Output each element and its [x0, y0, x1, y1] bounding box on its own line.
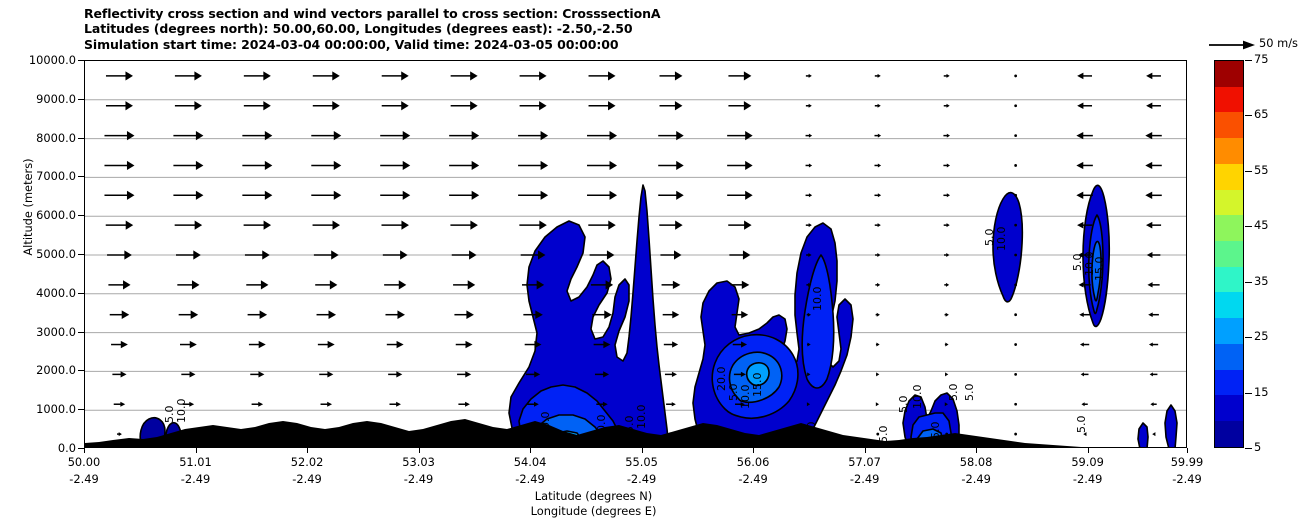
wind-vector-arrow: [1150, 402, 1156, 406]
wind-vector-arrow: [874, 163, 881, 167]
wind-vector-arrow: [321, 402, 332, 407]
wind-vector-arrow: [1015, 344, 1017, 346]
wind-vector-arrow: [314, 250, 339, 259]
colorbar-band: [1215, 292, 1243, 318]
wind-vector-arrow: [876, 402, 879, 406]
wind-vector-arrow: [874, 193, 881, 197]
wind-vector-arrow: [1015, 314, 1017, 316]
wind-vector-arrow: [589, 101, 616, 110]
svg-text:5.0: 5.0: [897, 396, 910, 414]
x-axis-tick-label-longitude: -2.49: [257, 472, 357, 486]
wind-vector-arrow: [250, 371, 264, 377]
wind-vector-arrow: [242, 191, 272, 200]
wind-vector-arrow: [246, 280, 268, 289]
wind-vector-arrow: [318, 341, 335, 348]
wind-vector-arrow: [943, 163, 950, 167]
wind-vector-arrow: [175, 221, 202, 230]
wind-vector-arrow: [1081, 402, 1087, 406]
wind-vector-arrow: [313, 101, 340, 110]
svg-text:10.0: 10.0: [175, 399, 188, 424]
wind-vector-arrow: [1146, 222, 1161, 229]
colorbar-tick-mark: [1245, 448, 1252, 449]
x-axis-tick-label-latitude: 55.05: [592, 455, 692, 469]
colorbar-tick-label: 25: [1254, 329, 1269, 343]
x-axis-tick-label-latitude: 56.06: [703, 455, 803, 469]
wind-vector-arrow: [666, 402, 676, 406]
x-axis-tick-label-latitude: 51.01: [146, 455, 246, 469]
wind-vector-arrow: [875, 253, 880, 257]
y-axis-tick-label: 8000.0: [2, 131, 76, 145]
y-axis-tick-mark: [78, 293, 84, 294]
wind-vector-arrow: [117, 432, 122, 436]
wind-vector-arrow: [727, 161, 753, 170]
x-axis-tick-label-latitude: 50.00: [34, 455, 134, 469]
y-axis-tick-label: 4000.0: [2, 286, 76, 300]
wind-vector-arrow: [177, 280, 199, 289]
wind-vector-arrow: [946, 433, 948, 435]
svg-text:5.0: 5.0: [1075, 416, 1088, 434]
wind-vector-arrow: [382, 71, 409, 80]
x-axis-tick-label-latitude: 53.03: [369, 455, 469, 469]
wind-vector-arrow: [519, 221, 546, 230]
wind-vector-arrow: [388, 371, 402, 377]
wind-vector-arrow: [729, 250, 750, 259]
wind-vector-arrow: [1079, 312, 1090, 317]
wind-vector-arrow: [317, 310, 336, 319]
wind-vector-arrow: [244, 221, 271, 230]
wind-vector-arrow: [110, 310, 129, 319]
wind-vector-arrow: [454, 310, 473, 319]
wind-vector-arrow: [248, 310, 267, 319]
wind-vector-arrow: [874, 134, 881, 138]
wind-vector-arrow: [875, 223, 881, 227]
wind-vector-arrow: [1015, 165, 1017, 167]
wind-vector-arrow: [175, 71, 202, 80]
y-axis-tick-label: 6000.0: [2, 208, 76, 222]
y-axis-tick-mark: [78, 370, 84, 371]
wind-vector-arrow: [179, 310, 198, 319]
wind-vector-arrow: [456, 341, 473, 348]
wind-vector-arrow: [249, 341, 266, 348]
wind-vector-arrow: [107, 250, 132, 259]
wind-vector-arrow: [106, 101, 133, 110]
plot-area: 5.0 10.0 20.0 20.0 5.0 10.0 20.0 5.0 10.…: [84, 60, 1187, 448]
wind-vector-arrow: [1015, 135, 1017, 137]
y-axis-tick-mark: [78, 332, 84, 333]
wind-vector-arrow: [875, 283, 880, 287]
wind-vector-arrow: [383, 250, 408, 259]
wind-vector-arrow: [808, 433, 810, 435]
wind-vector-arrow: [728, 221, 751, 230]
y-axis-tick-mark: [78, 60, 84, 61]
y-axis-tick-mark: [78, 99, 84, 100]
wind-vector-arrow: [1148, 312, 1159, 317]
wind-vector-arrow: [944, 104, 950, 108]
x-axis-tick-mark: [753, 448, 754, 453]
cross-section-canvas: 5.0 10.0 20.0 20.0 5.0 10.0 20.0 5.0 10.…: [85, 61, 1187, 448]
y-axis-tick-label: 9000.0: [2, 92, 76, 106]
svg-text:5.0: 5.0: [963, 384, 976, 402]
wind-vector-arrow: [114, 402, 125, 407]
wind-vector-arrow: [1015, 224, 1017, 226]
colorbar-band: [1215, 395, 1243, 421]
wind-vector-arrow: [658, 161, 684, 170]
wind-vector-arrow: [587, 161, 617, 170]
svg-text:10.0: 10.0: [995, 227, 1008, 252]
wind-vector-arrow: [875, 74, 881, 78]
svg-text:10.0: 10.0: [911, 385, 924, 410]
wind-vector-arrow: [1015, 194, 1017, 196]
wind-vector-arrow: [452, 250, 477, 259]
x-axis-tick-label-longitude: -2.49: [592, 472, 692, 486]
wind-vector-arrow: [728, 71, 751, 80]
wind-vector-arrow: [1015, 284, 1017, 286]
wind-vector-arrow: [664, 341, 678, 347]
wind-vector-arrow: [727, 191, 753, 200]
wind-vector-arrow: [945, 343, 949, 347]
wind-vector-arrow: [457, 371, 471, 377]
y-axis-tick-mark: [78, 215, 84, 216]
y-axis-tick-label: 0.0: [2, 441, 76, 455]
wind-vector-arrow: [1145, 162, 1162, 169]
wind-vector-arrow: [315, 280, 337, 289]
wind-vector-arrow: [1147, 252, 1161, 258]
x-axis-tick-mark: [530, 448, 531, 453]
x-axis-tick-label-latitude: 54.04: [480, 455, 580, 469]
x-axis-tick-mark: [642, 448, 643, 453]
svg-text:5.0: 5.0: [805, 422, 818, 440]
wind-vector-arrow: [104, 161, 134, 170]
wind-vector-arrow: [173, 161, 203, 170]
y-axis-tick-label: 5000.0: [2, 247, 76, 261]
wind-vector-arrow: [945, 313, 949, 317]
wind-vector-arrow: [1076, 162, 1093, 169]
wind-vector-arrow: [659, 71, 682, 80]
wind-vector-arrow: [252, 402, 263, 407]
wind-vector-arrow: [389, 402, 400, 407]
x-axis-tick-mark: [84, 448, 85, 453]
wind-vector-arrow: [1081, 372, 1089, 376]
colorbar-band: [1215, 87, 1243, 113]
wind-vector-arrow: [387, 341, 404, 348]
wind-vector-arrow: [1077, 73, 1092, 80]
wind-vector-arrow: [520, 71, 547, 80]
wind-vector-arrow: [806, 104, 812, 108]
x-axis-tick-label-latitude: 59.99: [1137, 455, 1237, 469]
colorbar-tick-label: 45: [1254, 218, 1269, 232]
colorbar-tick-mark: [1245, 171, 1252, 172]
x-axis-tick-label-latitude: 58.08: [926, 455, 1026, 469]
wind-vector-arrow: [1146, 103, 1161, 110]
wind-vector-arrow: [1015, 105, 1017, 107]
right-arrow-icon: [1207, 36, 1257, 54]
wind-vector-arrow: [1147, 282, 1159, 287]
wind-vector-arrow: [1150, 372, 1158, 376]
wind-reference-label: 50 m/s: [1259, 36, 1298, 50]
colorbar-tick-mark: [1245, 226, 1252, 227]
x-axis-tick-mark: [865, 448, 866, 453]
wind-vector-arrow: [319, 371, 333, 377]
wind-vector-arrow: [806, 74, 812, 78]
colorbar-band: [1215, 138, 1243, 164]
wind-vector-arrow: [659, 101, 682, 110]
wind-vector-arrow: [944, 223, 950, 227]
wind-vector-arrow: [244, 71, 271, 80]
x-axis-tick-mark: [1187, 448, 1188, 453]
wind-vector-arrow: [1080, 343, 1089, 347]
wind-vector-arrow: [311, 161, 341, 170]
wind-vector-arrow: [806, 193, 813, 197]
x-axis-tick-label-longitude: -2.49: [480, 472, 580, 486]
title-line-1: Reflectivity cross section and wind vect…: [84, 6, 984, 21]
wind-vector-arrow: [659, 221, 682, 230]
x-axis-tick-label-longitude: -2.49: [369, 472, 469, 486]
wind-vector-arrow: [520, 101, 547, 110]
wind-vector-arrow: [173, 191, 203, 200]
wind-vector-arrow: [181, 371, 195, 377]
wind-vector-arrow: [384, 280, 406, 289]
x-axis-tick-label-latitude: 52.02: [257, 455, 357, 469]
colorbar-tick-label: 35: [1254, 274, 1269, 288]
svg-text:15.0: 15.0: [751, 373, 764, 398]
wind-vector-arrow: [662, 281, 681, 289]
x-axis-title-latitude: Latitude (degrees N): [0, 489, 1187, 503]
y-axis-tick-mark: [78, 409, 84, 410]
wind-vector-arrow: [175, 101, 202, 110]
wind-vector-arrow: [944, 253, 949, 257]
wind-vector-arrow: [106, 221, 133, 230]
wind-vector-arrow: [589, 71, 616, 80]
colorbar-tick-mark: [1245, 282, 1252, 283]
wind-vector-arrow: [104, 191, 134, 200]
svg-text:5.0: 5.0: [929, 422, 942, 440]
wind-vector-arrow: [806, 163, 813, 167]
wind-vector-arrow: [451, 71, 478, 80]
wind-vector-arrow: [728, 101, 751, 110]
colorbar: [1214, 60, 1244, 448]
wind-vector-arrow: [1146, 73, 1161, 80]
x-axis-title-longitude: Longitude (degrees E): [0, 504, 1187, 518]
wind-vector-arrow: [806, 223, 812, 227]
colorbar-band: [1215, 215, 1243, 241]
y-axis-tick-label: 10000.0: [2, 53, 76, 67]
y-axis-tick-mark: [78, 254, 84, 255]
wind-vector-arrow: [1015, 254, 1017, 256]
svg-text:10.0: 10.0: [811, 287, 824, 312]
y-axis-tick-label: 7000.0: [2, 169, 76, 183]
wind-vector-arrow: [453, 280, 475, 289]
x-axis-tick-label-longitude: -2.49: [1137, 472, 1237, 486]
x-axis-tick-mark: [196, 448, 197, 453]
wind-vector-arrow: [518, 161, 548, 170]
x-axis-tick-mark: [419, 448, 420, 453]
y-axis-tick-mark: [78, 138, 84, 139]
wind-vector-arrow: [943, 134, 950, 138]
colorbar-tick-label: 15: [1254, 385, 1269, 399]
wind-vector-arrow: [1145, 192, 1162, 199]
wind-vector-arrow: [385, 310, 404, 319]
wind-vector-arrow: [313, 71, 340, 80]
wind-vector-arrow: [180, 341, 197, 348]
colorbar-tick-mark: [1245, 115, 1252, 116]
svg-text:15.0: 15.0: [1093, 257, 1106, 282]
wind-vector-arrow: [590, 250, 615, 259]
wind-vector-arrow: [313, 221, 340, 230]
wind-vector-arrow: [381, 221, 408, 230]
wind-vector-arrow: [1015, 403, 1017, 405]
wind-vector-arrow: [1015, 373, 1017, 375]
wind-vector-arrow: [876, 372, 879, 376]
colorbar-band: [1215, 318, 1243, 344]
svg-text:20.0: 20.0: [539, 412, 552, 437]
wind-vector-arrow: [1015, 75, 1017, 77]
wind-vector-arrow: [945, 372, 948, 376]
wind-vector-arrow: [877, 433, 879, 435]
wind-vector-arrow: [450, 221, 477, 230]
wind-vector-arrow: [876, 313, 880, 317]
wind-vector-arrow: [311, 191, 341, 200]
wind-vector-arrow: [458, 402, 469, 407]
colorbar-band: [1215, 421, 1243, 447]
colorbar-band: [1215, 267, 1243, 293]
x-axis-tick-mark: [1088, 448, 1089, 453]
y-axis-tick-label: 2000.0: [2, 363, 76, 377]
wind-vector-arrow: [518, 191, 548, 200]
wind-vector-arrow: [242, 161, 272, 170]
wind-vector-arrow: [1152, 432, 1155, 436]
colorbar-tick-label: 5: [1254, 440, 1261, 454]
wind-vector-arrow: [663, 311, 680, 318]
title-line-2: Latitudes (degrees north): 50.00,60.00, …: [84, 21, 984, 36]
wind-vector-arrow: [449, 161, 479, 170]
colorbar-band: [1215, 190, 1243, 216]
wind-vector-arrow: [244, 101, 271, 110]
colorbar-band: [1215, 370, 1243, 396]
wind-vector-arrow: [380, 191, 410, 200]
y-axis-tick-label: 1000.0: [2, 402, 76, 416]
x-axis-tick-label-longitude: -2.49: [815, 472, 915, 486]
wind-vector-arrow: [451, 101, 478, 110]
wind-vector-arrow: [1077, 103, 1092, 110]
reflectivity-cross-section-figure: Reflectivity cross section and wind vect…: [0, 0, 1304, 526]
wind-vector-arrow: [943, 193, 950, 197]
wind-vector-arrow: [108, 280, 130, 289]
wind-vector-arrow: [112, 371, 126, 377]
wind-vector-arrow: [245, 250, 270, 259]
colorbar-band: [1215, 344, 1243, 370]
y-axis-tick-label: 3000.0: [2, 325, 76, 339]
title-line-3: Simulation start time: 2024-03-04 00:00:…: [84, 37, 984, 52]
wind-vector-arrow: [1015, 433, 1017, 435]
y-axis-tick-mark: [78, 176, 84, 177]
colorbar-band: [1215, 61, 1243, 87]
colorbar-tick-mark: [1245, 60, 1252, 61]
wind-vector-arrow: [587, 191, 617, 200]
wind-vector-arrow: [944, 74, 950, 78]
wind-vector-arrow: [176, 250, 201, 259]
colorbar-tick-mark: [1245, 393, 1252, 394]
wind-vector-arrow: [876, 343, 880, 347]
wind-vector-arrow: [660, 250, 681, 259]
colorbar-tick-label: 65: [1254, 107, 1269, 121]
wind-vector-arrow: [106, 71, 133, 80]
colorbar-tick-mark: [1245, 337, 1252, 338]
colorbar-band: [1215, 164, 1243, 190]
x-axis-tick-mark: [976, 448, 977, 453]
x-axis-tick-label-longitude: -2.49: [34, 472, 134, 486]
svg-text:10.0: 10.0: [635, 405, 648, 430]
colorbar-tick-label: 55: [1254, 163, 1269, 177]
x-axis-tick-label-longitude: -2.49: [703, 472, 803, 486]
wind-vector-arrow: [382, 101, 409, 110]
colorbar-band: [1215, 112, 1243, 138]
colorbar-band: [1215, 241, 1243, 267]
y-axis-title: Altitude (meters): [21, 127, 35, 287]
wind-vector-arrow: [944, 283, 949, 287]
wind-vector-arrow: [111, 341, 128, 348]
wind-vector-arrow: [380, 161, 410, 170]
x-axis-tick-label-latitude: 59.09: [1038, 455, 1138, 469]
wind-vector-arrow: [665, 372, 677, 377]
x-axis-tick-label-longitude: -2.49: [926, 472, 1026, 486]
svg-text:5.0: 5.0: [947, 384, 960, 402]
wind-vector-arrow: [588, 221, 615, 230]
x-axis-tick-label-longitude: -2.49: [1038, 472, 1138, 486]
wind-vector-arrow: [1149, 343, 1158, 347]
x-axis-tick-mark: [307, 448, 308, 453]
x-axis-tick-label-longitude: -2.49: [146, 472, 246, 486]
wind-vector-arrow: [875, 104, 881, 108]
wind-reference-key: 50 m/s: [1207, 36, 1303, 56]
wind-vector-arrow: [449, 191, 479, 200]
figure-title: Reflectivity cross section and wind vect…: [84, 6, 984, 52]
wind-vector-arrow: [806, 134, 813, 138]
wind-vector-arrow: [658, 191, 684, 200]
x-axis-tick-label-latitude: 57.07: [815, 455, 915, 469]
